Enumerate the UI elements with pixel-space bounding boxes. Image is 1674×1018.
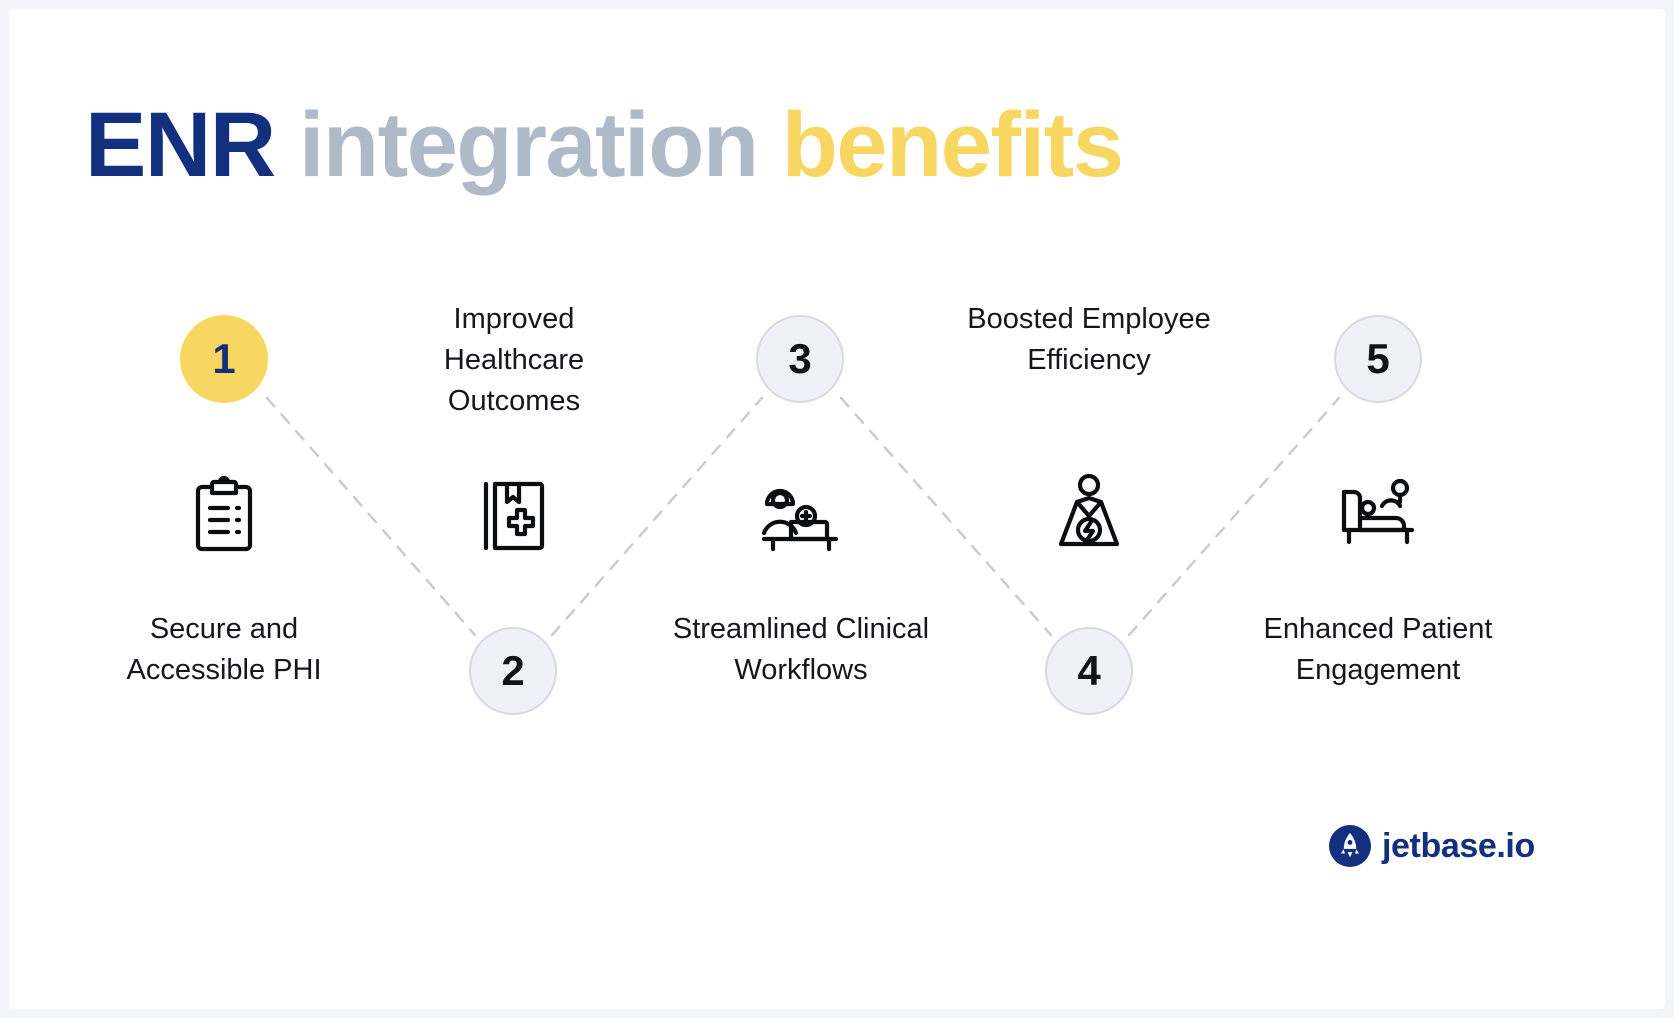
infographic-card: ENR integration benefits 1 — [9, 9, 1665, 1009]
step-number-3-text: 3 — [788, 335, 811, 383]
step-label-4: Boosted Employee Efficiency — [939, 299, 1239, 381]
medical-book-icon — [474, 476, 554, 556]
connector-4-5 — [1129, 398, 1339, 635]
step-number-2-text: 2 — [501, 647, 524, 695]
step-number-1[interactable]: 1 — [180, 315, 268, 403]
step-label-2: Improved Healthcare Outcomes — [364, 299, 664, 422]
hospital-bed-patient-icon — [1338, 472, 1418, 552]
step-number-3[interactable]: 3 — [756, 315, 844, 403]
step-label-5: Enhanced Patient Engagement — [1228, 609, 1528, 691]
step-label-4-line1: Boosted Employee — [939, 299, 1239, 340]
step-label-1: Secure and Accessible PHI — [74, 609, 374, 691]
brand-name-text: jetbase.io — [1382, 827, 1535, 866]
step-label-4-line2: Efficiency — [939, 340, 1239, 381]
step-label-3: Streamlined Clinical Workflows — [651, 609, 951, 691]
brand-logo[interactable]: jetbase.io — [1329, 825, 1535, 867]
step-label-5-line1: Enhanced Patient — [1228, 609, 1528, 650]
step-number-1-text: 1 — [212, 335, 235, 383]
medical-staff-energy-icon — [1049, 472, 1129, 552]
step-label-2-line3: Outcomes — [364, 381, 664, 422]
step-number-2[interactable]: 2 — [469, 627, 557, 715]
step-label-2-line1: Improved — [364, 299, 664, 340]
step-number-4[interactable]: 4 — [1045, 627, 1133, 715]
step-label-2-line2: Healthcare — [364, 340, 664, 381]
connector-2-3 — [552, 398, 762, 635]
rocket-circle-logo-icon — [1329, 825, 1371, 867]
step-number-4-text: 4 — [1077, 647, 1100, 695]
step-label-3-line1: Streamlined Clinical — [651, 609, 951, 650]
clipboard-checklist-icon — [184, 476, 264, 556]
clinical-workstation-icon — [761, 476, 841, 556]
connector-1-2 — [267, 398, 475, 635]
step-label-1-line1: Secure and — [74, 609, 374, 650]
step-label-1-line2: Accessible PHI — [74, 650, 374, 691]
connector-3-4 — [841, 398, 1051, 635]
step-number-5[interactable]: 5 — [1334, 315, 1422, 403]
step-label-5-line2: Engagement — [1228, 650, 1528, 691]
step-number-5-text: 5 — [1366, 335, 1389, 383]
step-label-3-line2: Workflows — [651, 650, 951, 691]
